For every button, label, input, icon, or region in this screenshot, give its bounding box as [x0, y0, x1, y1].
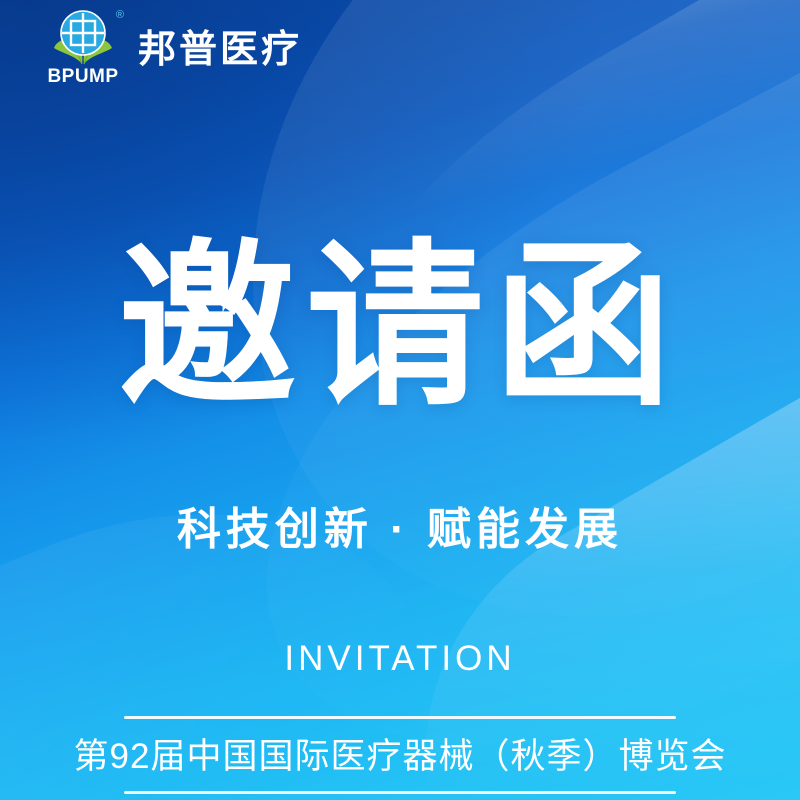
page-title: 邀请函 [0, 238, 800, 416]
registered-trademark-icon: ® [116, 10, 124, 21]
divider-bottom [124, 791, 676, 794]
page-title-english: INVITATION [0, 641, 800, 676]
brand-abbreviation: BPUMP [47, 67, 118, 86]
event-name: 第92届中国国际医疗器械（秋季）博览会 [74, 719, 727, 791]
brand-name-cn: 邦普医疗 [138, 31, 302, 69]
invitation-poster: ® BPUMP 邦普医疗 邀请函 科技创新 · 赋能发展 INVITATION … [0, 0, 800, 800]
bpump-globe-leaf-icon: ® [46, 8, 120, 66]
event-banner: 第92届中国国际医疗器械（秋季）博览会 [0, 716, 800, 794]
page-subtitle: 科技创新 · 赋能发展 [0, 508, 800, 552]
brand-logo: ® BPUMP [44, 8, 122, 90]
brand-lockup: ® BPUMP 邦普医疗 [44, 8, 302, 90]
